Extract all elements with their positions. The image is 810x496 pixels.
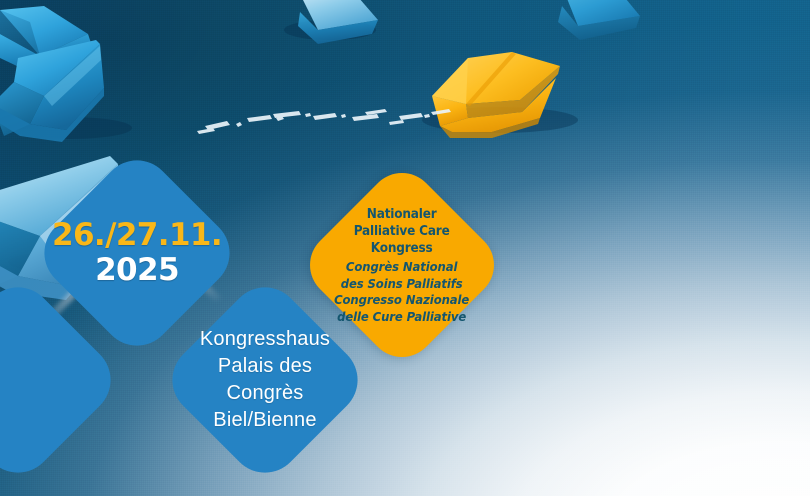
event-dates: 26./27.11.: [52, 218, 222, 252]
poster-canvas: 26./27.11. 2025 Kongresshaus Palais des …: [0, 0, 810, 496]
venue-line-de: Kongresshaus: [189, 326, 341, 353]
event-year: 2025: [52, 252, 222, 288]
title-french-line2: des Soins Palliatifs: [332, 275, 472, 292]
title-french-line1: Congrès National: [332, 259, 472, 276]
title-italian-line1: Congresso Nazionale: [332, 292, 472, 309]
title-german-line1: Nationaler: [332, 206, 472, 223]
title-italian-line2: delle Cure Palliative: [332, 308, 472, 325]
venue-line-city: Biel/Bienne: [189, 407, 341, 434]
title-german-line2: Palliative Care Kongress: [332, 223, 472, 257]
venue-line-fr: Palais des Congrès: [189, 353, 341, 407]
